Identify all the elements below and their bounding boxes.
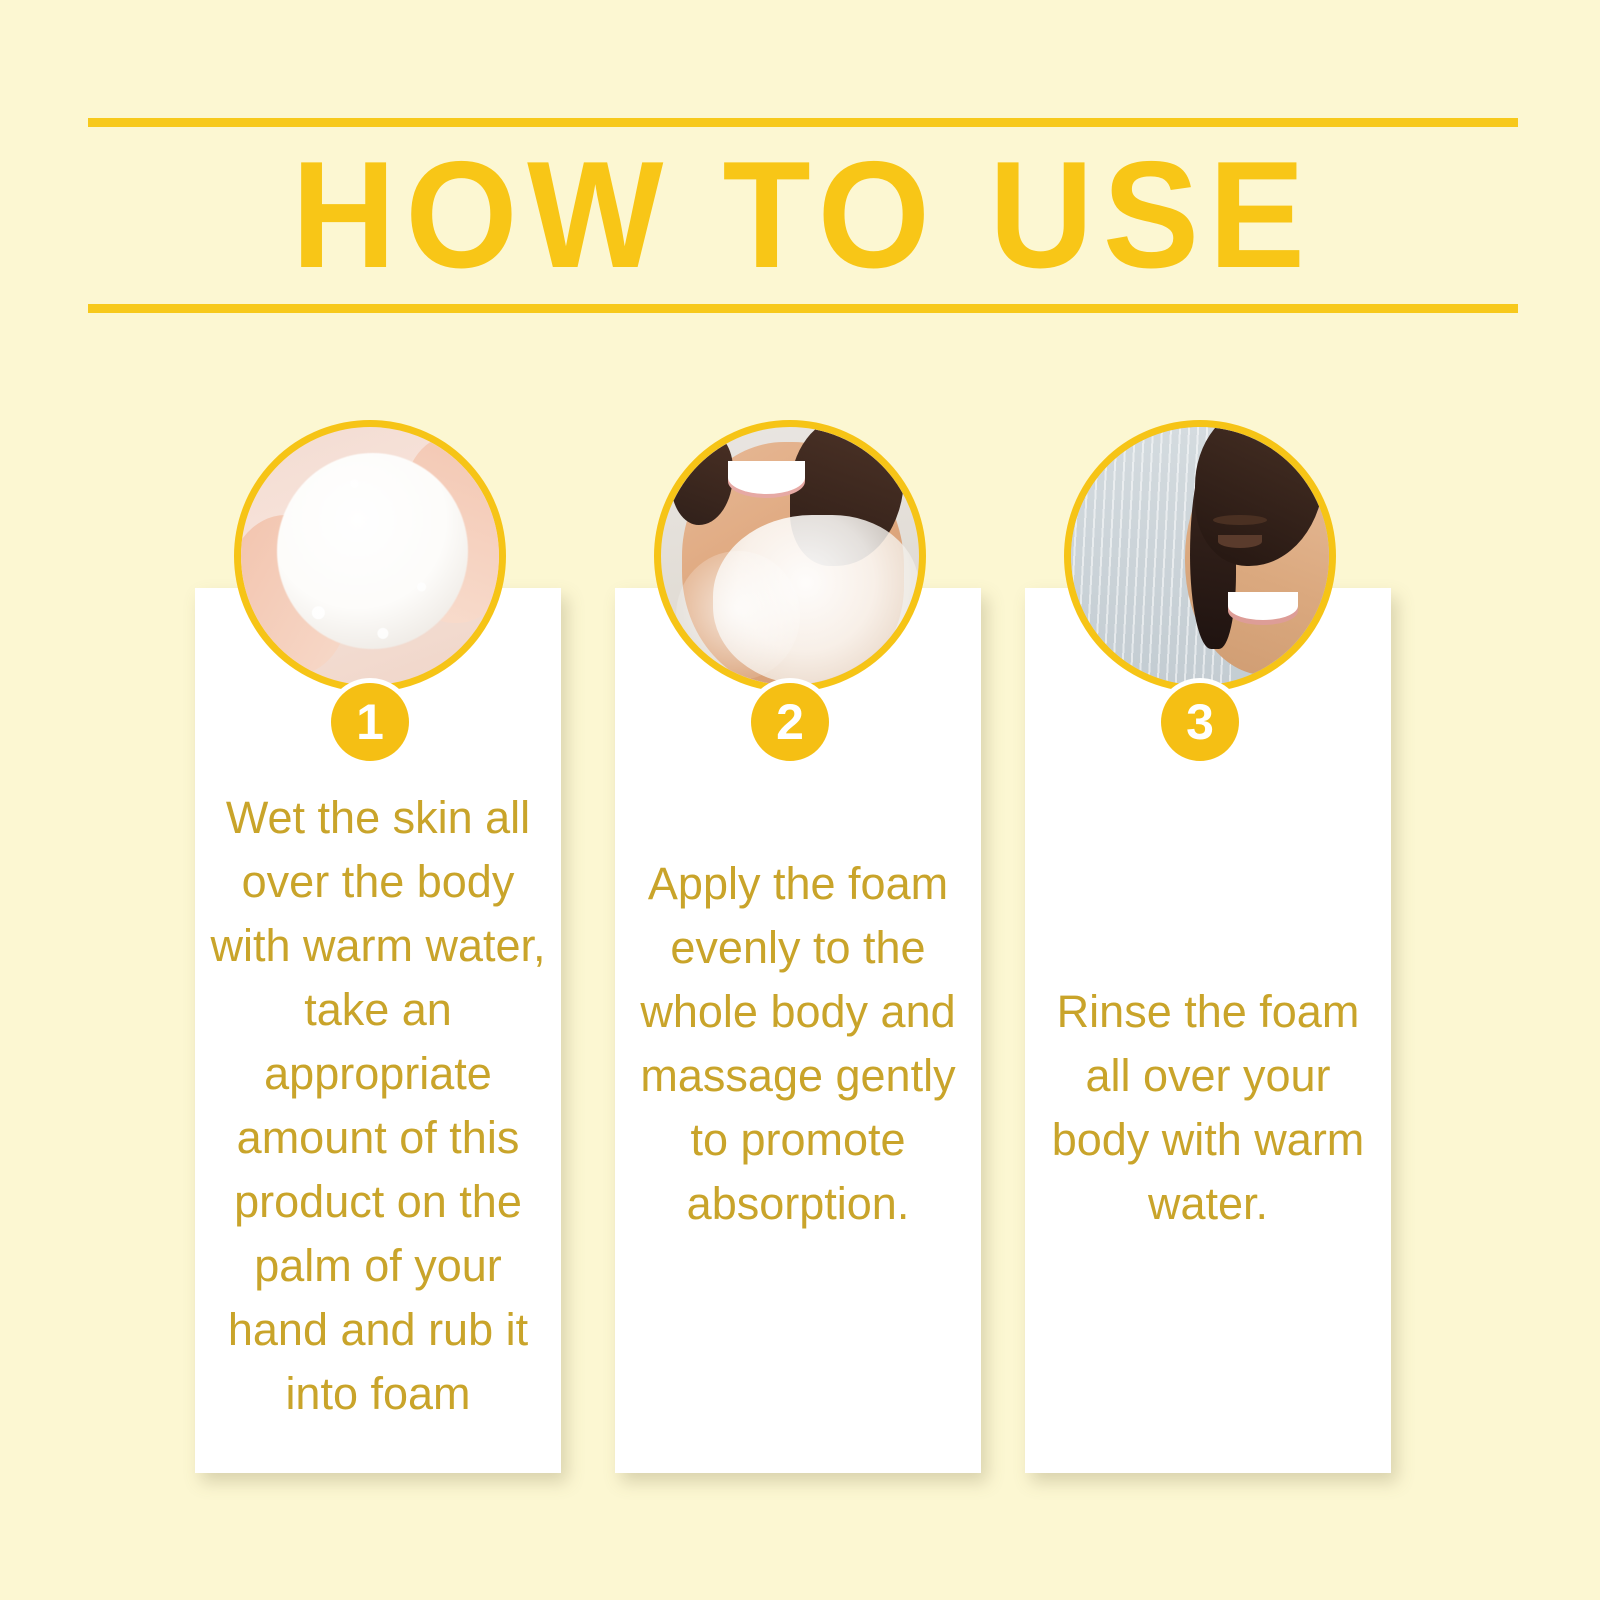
bubbles-shape [241,427,499,685]
photo-inner [661,427,919,685]
step-card-3: Rinse the foam all over your body with w… [1008,420,1400,1500]
photo-inner [1071,427,1329,685]
step-description: Apply the foam evenly to the whole body … [625,852,971,1236]
step-number-badge: 1 [326,678,414,766]
step-number-badge: 2 [746,678,834,766]
step-card-1: Wet the skin all over the body with warm… [178,420,570,1500]
how-to-use-infographic: HOW TO USE Wet the skin all over the bod… [0,0,1600,1600]
step-card-2: Apply the foam evenly to the whole body … [598,420,990,1500]
photo-inner [241,427,499,685]
eyebrow-shape [1213,515,1267,525]
lather-secondary-shape [676,551,800,680]
woman-applying-foam-photo [654,420,926,692]
steps-row: Wet the skin all over the body with warm… [0,0,1600,1600]
step-number-badge: 3 [1156,678,1244,766]
step-description: Wet the skin all over the body with warm… [205,786,551,1426]
woman-rinsing-in-shower-photo [1064,420,1336,692]
step-description: Rinse the foam all over your body with w… [1035,980,1381,1236]
hands-holding-foam-photo [234,420,506,692]
smile-shape [728,461,805,495]
